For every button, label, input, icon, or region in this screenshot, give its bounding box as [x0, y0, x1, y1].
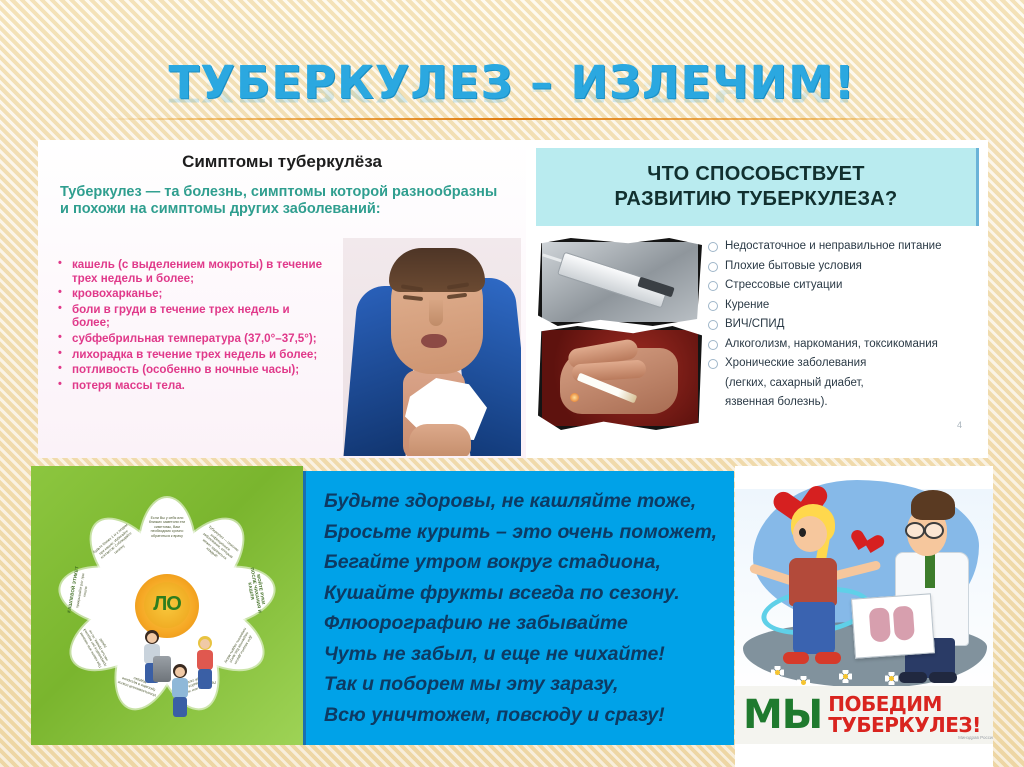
petal-text: Будьте ближе 1 м к людям при кашле; Избе… [92, 522, 138, 564]
doctor-shoe-left [899, 672, 927, 683]
face [175, 667, 185, 677]
poem-line: Бросьте курить – это очень поможет, [324, 517, 734, 548]
symptoms-card: Симптомы туберкулёза Туберкулез — та бол… [38, 140, 526, 458]
slogan-word-my: МЫ [743, 695, 822, 735]
glasses-icon [905, 522, 925, 539]
kid-figure [165, 664, 195, 718]
petal-text: Если Вы у себя или близких заметили эти … [145, 516, 189, 539]
face [147, 633, 157, 643]
kid-figure [137, 630, 167, 686]
ministry-logo-icon: ЛО [144, 582, 190, 628]
list-item: субфебрильная температура (37,0°–37,5°); [56, 332, 326, 346]
list-item: кровохарканье; [56, 287, 326, 301]
face [200, 639, 210, 649]
list-item: потеря массы тела. [56, 379, 326, 393]
list-item: Алкоголизм, наркомания, токсикомания [708, 338, 978, 351]
hand [409, 424, 471, 456]
xray-sheet [851, 593, 935, 658]
nose [429, 300, 443, 326]
list-subitem: (легких, сахарный диабет, [708, 377, 978, 390]
legs [198, 669, 212, 689]
causes-card: ЧТО СПОСОБСТВУЕТ РАЗВИТИЮ ТУБЕРКУЛЕЗА? Н… [526, 140, 988, 458]
page-title-reflection: Туберкулез – излечим! [0, 77, 1024, 106]
slide-canvas: Туберкулез – излечим! Туберкулез – излеч… [0, 0, 1024, 767]
cough-etiquette-daisy-panel: Если Вы у себя или близких заметили эти … [31, 466, 303, 745]
petal-text: Для защиты других пациентов Вас могут по… [222, 625, 256, 670]
girl-jeans [793, 602, 835, 654]
list-item: Курение [708, 299, 978, 312]
victory-poster-panel: МЫ ПОБЕДИМ ТУБЕРКУЛЕЗ! Минздрав России [735, 466, 993, 767]
list-item: ВИЧ/СПИД [708, 318, 978, 331]
poem-line: Так и поборем мы эту заразу, [324, 669, 734, 700]
girl-eye [799, 528, 806, 537]
slogan-rest: ПОБЕДИМ ТУБЕРКУЛЕЗ! [828, 694, 981, 736]
poem-lines: Будьте здоровы, не кашляйте тоже, Бросьт… [324, 486, 734, 730]
poem-line: Кушайте фрукты всегда по сезону. [324, 578, 734, 609]
top-image-panel: Симптомы туберкулёза Туберкулез — та бол… [38, 140, 988, 458]
symptoms-intro-text: Туберкулез — та болезнь, симптомы которо… [60, 184, 510, 218]
lung-right-icon [893, 606, 915, 641]
list-subitem: язвенная болезнь). [708, 396, 978, 409]
petal-text: При кашле или чихании прикрывайте рот ве… [78, 622, 116, 669]
girl-face [793, 516, 827, 552]
petal-text: Туберкулез — опасное инфекционное заболе… [193, 522, 241, 568]
glasses-icon [924, 522, 944, 539]
flower-icon [839, 670, 852, 683]
daisy-center: ЛО [135, 574, 199, 638]
symptoms-list: кашель (с выделением мокроты) в течение … [56, 258, 326, 394]
symptoms-heading: Симптомы туберкулёза [38, 152, 526, 172]
slogan-line-1: ПОБЕДИМ [828, 694, 981, 715]
list-item: лихорадка в течение трех недель и более; [56, 348, 326, 362]
legs [173, 697, 187, 717]
poem-line: Будьте здоровы, не кашляйте тоже, [324, 486, 734, 517]
girl-shoe-left [783, 652, 809, 664]
poem-box: Будьте здоровы, не кашляйте тоже, Бросьт… [303, 471, 734, 745]
coughing-man-photo [343, 238, 521, 456]
mouth [421, 334, 447, 348]
slide-title-area: Туберкулез – излечим! Туберкулез – излеч… [0, 58, 1024, 136]
list-item: Плохие бытовые условия [708, 260, 978, 273]
doctor-shoe-right [929, 672, 957, 683]
list-item: Стрессовые ситуации [708, 279, 978, 292]
causes-list: Недостаточное и неправильное питание Пло… [708, 240, 978, 416]
causes-heading-box: ЧТО СПОСОБСТВУЕТ РАЗВИТИЮ ТУБЕРКУЛЕЗА? [536, 148, 979, 226]
flower-icon [771, 666, 784, 679]
list-item: кашель (с выделением мокроты) в течение … [56, 258, 326, 285]
slogan-line-2: ТУБЕРКУЛЕЗ! [828, 715, 981, 736]
daisy-graphic: Если Вы у себя или близких заметили эти … [41, 480, 293, 732]
cigarette-photo [538, 326, 702, 430]
torso [197, 650, 213, 670]
poem-line: Чуть не забыл, и еще не чихайте! [324, 639, 734, 670]
slogan-bar: МЫ ПОБЕДИМ ТУБЕРКУЛЕЗ! Минздрав России [735, 686, 993, 744]
poster-credit: Минздрав России [958, 735, 993, 740]
poem-line: Флюорографию не забывайте [324, 608, 734, 639]
girl-shirt [789, 558, 837, 606]
list-item: боли в груди в течение трех недель и бол… [56, 303, 326, 330]
causes-heading: ЧТО СПОСОБСТВУЕТ РАЗВИТИЮ ТУБЕРКУЛЕЗА? [614, 162, 897, 212]
poem-line: Бегайте утром вокруг стадиона, [324, 547, 734, 578]
causes-heading-line1: ЧТО СПОСОБСТВУЕТ [647, 163, 865, 185]
causes-heading-line2: РАЗВИТИЮ ТУБЕРКУЛЕЗА? [614, 188, 897, 210]
flower-icon [885, 672, 898, 685]
torso [172, 678, 188, 698]
cartoon-scene [735, 466, 993, 694]
title-underline-rule [95, 118, 935, 120]
doctor-hair [911, 490, 955, 520]
lung-left-icon [869, 607, 891, 642]
syringe-photo [538, 238, 702, 326]
list-item: потливость (особенно в ночные часы); [56, 363, 326, 377]
list-item: Недостаточное и неправильное питание [708, 240, 978, 253]
girl-shoe-right [815, 652, 841, 664]
page-number: 4 [957, 420, 962, 430]
ember-icon [570, 393, 579, 402]
doctor-tie [925, 554, 935, 588]
poem-line: Всю уничтожем, повсюду и сразу! [324, 700, 734, 731]
kid-figure [191, 636, 219, 690]
list-item: Хронические заболевания [708, 357, 978, 370]
petal-heading: МОЙТЕ РУКИ ПОСЛЕ ЧИХАНИЯ И КАШЛЯ [245, 565, 268, 615]
